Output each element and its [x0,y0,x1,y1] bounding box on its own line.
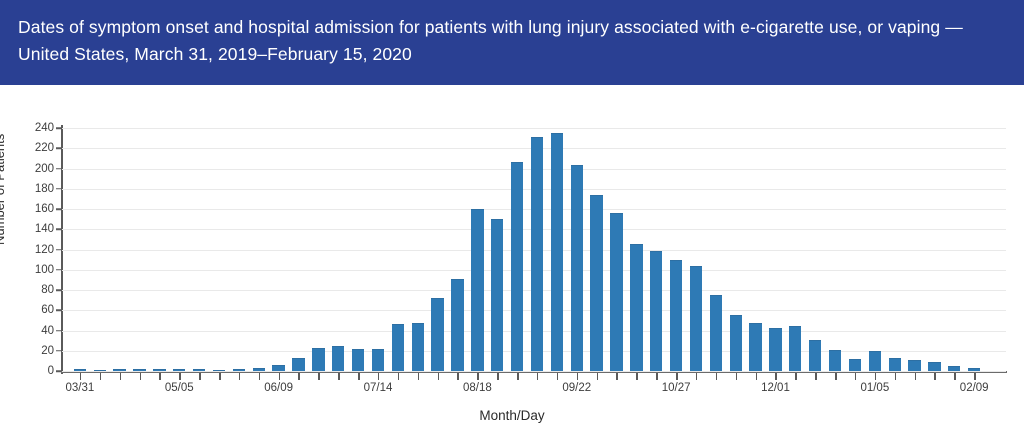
chart-container: Number of Patients 020406080100120140160… [0,85,1024,438]
bar[interactable] [74,369,86,371]
y-tick-label: 220 [0,142,54,154]
bar[interactable] [312,348,324,371]
x-tick-mark [80,373,82,380]
x-tick-mark [895,373,897,380]
gridline [62,128,1006,129]
bar[interactable] [690,266,702,371]
y-tick-label: 200 [0,163,54,175]
x-tick-mark [696,373,698,380]
x-tick-label: 07/14 [364,382,393,394]
x-tick-mark [199,373,201,380]
y-tick-label: 120 [0,244,54,256]
bar[interactable] [94,370,106,371]
bar[interactable] [213,370,225,371]
x-tick-mark [100,373,102,380]
x-tick-mark [676,373,678,380]
bar[interactable] [412,323,424,371]
bar[interactable] [610,213,622,371]
bar[interactable] [531,137,543,371]
x-tick-label: 03/31 [65,382,94,394]
x-tick-label: 09/22 [562,382,591,394]
bar[interactable] [928,362,940,371]
x-tick-label: 02/09 [960,382,989,394]
y-tick-label: 60 [0,304,54,316]
bar[interactable] [113,369,125,371]
x-tick-mark [557,373,559,380]
chart-page: Dates of symptom onset and hospital admi… [0,0,1024,438]
bar[interactable] [173,369,185,371]
bar[interactable] [233,369,245,371]
bar[interactable] [133,369,145,371]
x-tick-mark [934,373,936,380]
bar[interactable] [889,358,901,371]
x-tick-mark [835,373,837,380]
x-tick-mark [915,373,917,380]
x-tick-mark [517,373,519,380]
bar[interactable] [332,346,344,371]
bar[interactable] [451,279,463,371]
x-tick-label: 06/09 [264,382,293,394]
x-tick-mark [418,373,420,380]
header-banner: Dates of symptom onset and hospital admi… [0,0,1024,85]
bar[interactable] [372,349,384,371]
bar[interactable] [789,326,801,371]
x-tick-mark [438,373,440,380]
bar[interactable] [590,195,602,371]
x-tick-mark [259,373,261,380]
y-tick-label: 20 [0,345,54,357]
x-tick-mark [159,373,161,380]
bar[interactable] [491,219,503,371]
bar[interactable] [809,340,821,371]
bar[interactable] [471,209,483,371]
bar[interactable] [769,328,781,371]
x-tick-mark [179,373,181,380]
x-tick-label: 08/18 [463,382,492,394]
y-tick-label: 160 [0,203,54,215]
x-tick-mark [497,373,499,380]
bar[interactable] [630,244,642,371]
bar[interactable] [193,369,205,371]
x-tick-mark [795,373,797,380]
x-tick-mark [954,373,956,380]
bar[interactable] [571,165,583,371]
x-tick-mark [457,373,459,380]
bar[interactable] [829,350,841,371]
bar[interactable] [730,315,742,371]
bar[interactable] [749,323,761,371]
bar[interactable] [352,349,364,371]
x-tick-mark [298,373,300,380]
x-tick-mark [815,373,817,380]
x-tick-mark [756,373,758,380]
x-tick-mark [239,373,241,380]
x-tick-mark [775,373,777,380]
bar[interactable] [650,251,662,371]
x-tick-mark [974,373,976,380]
x-tick-label: 01/05 [860,382,889,394]
x-tick-mark [338,373,340,380]
bar[interactable] [968,368,980,371]
bar[interactable] [272,365,284,371]
bar[interactable] [869,351,881,371]
bar[interactable] [292,358,304,371]
x-tick-mark [656,373,658,380]
y-tick-label: 100 [0,264,54,276]
bar[interactable] [908,360,920,371]
bar[interactable] [431,298,443,371]
y-tick-label: 180 [0,183,54,195]
x-tick-mark [616,373,618,380]
x-axis-label: Month/Day [0,408,1024,423]
bar[interactable] [849,359,861,371]
bar[interactable] [153,369,165,371]
bar[interactable] [670,260,682,371]
x-tick-mark [716,373,718,380]
x-tick-mark [736,373,738,380]
x-tick-mark [120,373,122,380]
bar[interactable] [710,295,722,371]
x-tick-label: 12/01 [761,382,790,394]
y-tick-label: 80 [0,284,54,296]
x-tick-mark [597,373,599,380]
bar[interactable] [551,133,563,371]
y-tick-label: 0 [0,365,54,377]
bar[interactable] [253,368,265,371]
x-tick-mark [875,373,877,380]
bar[interactable] [948,366,960,371]
y-tick-label: 240 [0,122,54,134]
x-tick-mark [358,373,360,380]
x-tick-mark [219,373,221,380]
x-tick-label: 10/27 [662,382,691,394]
bar[interactable] [392,324,404,371]
bar[interactable] [511,162,523,371]
x-tick-mark [577,373,579,380]
x-tick-mark [378,373,380,380]
x-tick-mark [537,373,539,380]
x-tick-label: 05/05 [165,382,194,394]
x-tick-mark [636,373,638,380]
y-tick-label: 40 [0,325,54,337]
x-tick-mark [477,373,479,380]
x-tick-mark [140,373,142,380]
x-tick-mark [855,373,857,380]
x-tick-mark [318,373,320,380]
plot-area [62,128,1006,371]
y-tick-label: 140 [0,223,54,235]
x-tick-mark [398,373,400,380]
gridline [62,371,1006,372]
page-title: Dates of symptom onset and hospital admi… [18,14,994,68]
x-tick-mark [279,373,281,380]
